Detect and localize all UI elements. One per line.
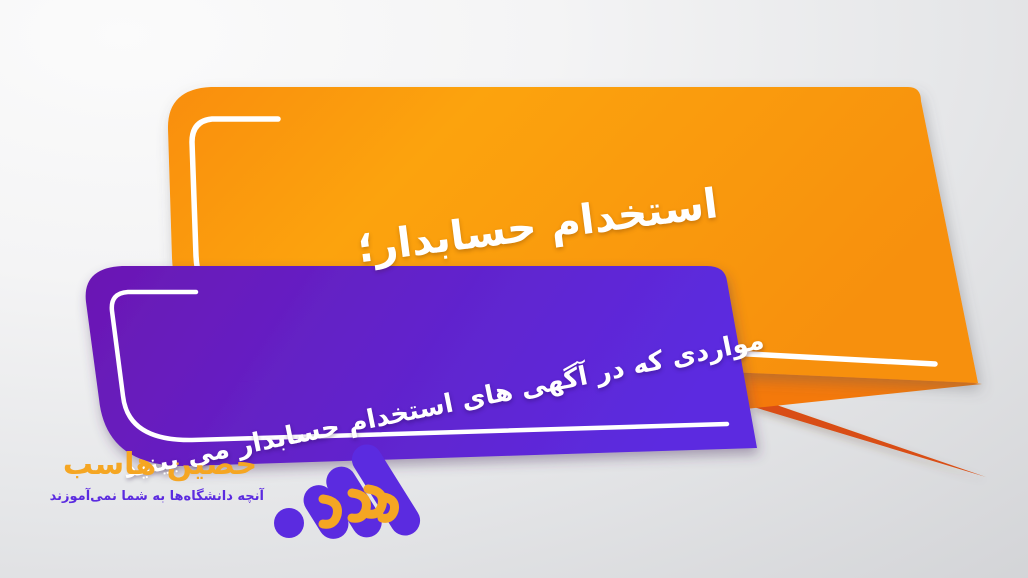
banner-canvas: استخدام حسابدار؛ مواردی که در آگهی های ا…: [0, 0, 1028, 578]
purple-banner-shape: [86, 266, 757, 466]
logo-wordmark: حصین هاسب: [60, 447, 260, 482]
logo-tagline: آنچه دانشگاه‌ها به شما نمی‌آموزند: [56, 489, 264, 504]
brand-logo[interactable]: حصین هاسب آنچه دانشگاه‌ها به شما نمی‌آمو…: [52, 443, 452, 543]
logo-mark-icon: [267, 437, 457, 547]
